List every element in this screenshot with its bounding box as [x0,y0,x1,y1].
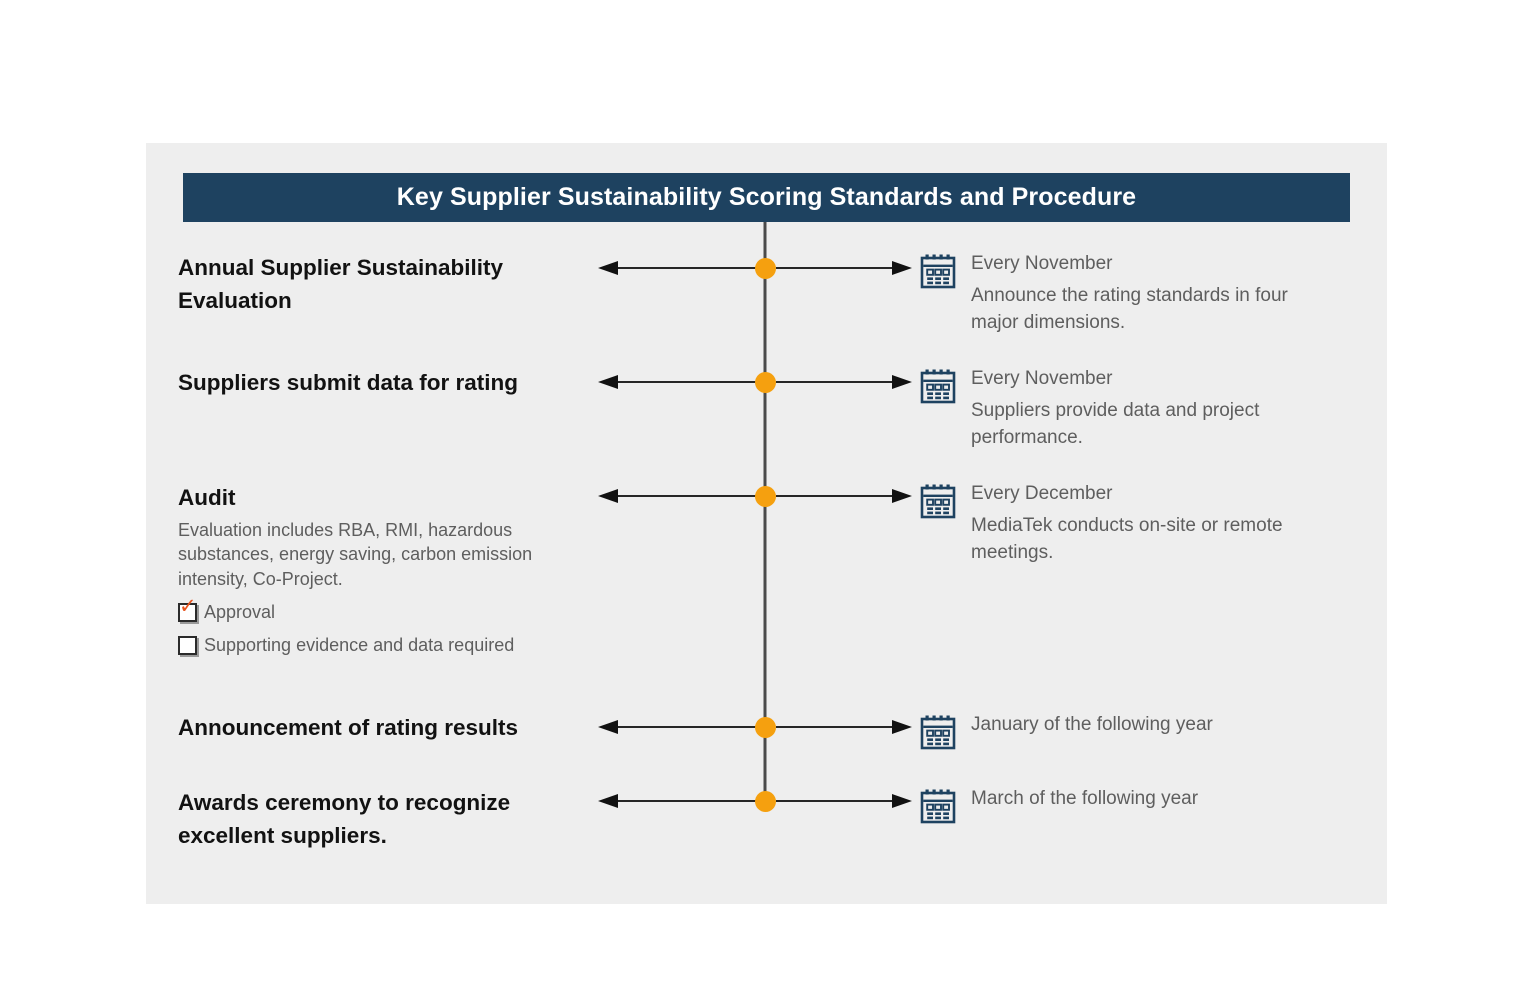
timeline-right-audit: Every DecemberMediaTek conducts on-site … [920,481,1283,567]
calendar-icon [920,483,956,519]
calendar-icon-wrapper [920,714,956,755]
date-label: Every November [971,366,1259,391]
checkbox-label: Approval [204,599,275,626]
calendar-icon-wrapper [920,483,956,524]
arrow-right-icon [776,487,912,505]
arrow-right-icon [776,259,912,277]
calendar-icon [920,253,956,289]
row-subtitle: Evaluation includes RBA, RMI, hazardous … [178,518,598,590]
timeline-right-text: Every NovemberAnnounce the rating standa… [971,251,1288,337]
date-label: January of the following year [971,712,1213,737]
connector-arrow-right [776,259,912,277]
timeline-right-text: Every NovemberSuppliers provide data and… [971,366,1259,452]
calendar-icon-wrapper [920,368,956,409]
connector-arrow-right [776,373,912,391]
timeline-node-annual-evaluation[interactable] [755,258,776,279]
connector-arrow-left [598,487,756,505]
arrow-left-icon [598,259,756,277]
check-mark-icon: ✓ [179,596,197,617]
timeline-right-text: Every DecemberMediaTek conducts on-site … [971,481,1283,567]
checkbox-item[interactable]: ✓Approval [178,599,598,626]
checkbox-unchecked-icon[interactable] [178,636,197,655]
timeline-left-audit: AuditEvaluation includes RBA, RMI, hazar… [178,481,598,665]
calendar-icon [920,714,956,750]
row-title: Suppliers submit data for rating [178,366,598,399]
arrow-right-icon [776,373,912,391]
connector-arrow-left [598,373,756,391]
timeline-node-suppliers-submit-data[interactable] [755,372,776,393]
checkbox-label: Supporting evidence and data required [204,632,514,659]
timeline-left-announcement-of-results: Announcement of rating results [178,711,598,744]
connector-arrow-right [776,718,912,736]
timeline-left-suppliers-submit-data: Suppliers submit data for rating [178,366,598,399]
row-title: Audit [178,481,598,514]
calendar-icon-wrapper [920,253,956,294]
row-title: Announcement of rating results [178,711,598,744]
timeline-right-announcement-of-results: January of the following year [920,712,1213,755]
arrow-left-icon [598,792,756,810]
date-label: Every December [971,481,1283,506]
checkbox-checked-icon[interactable]: ✓ [178,603,197,622]
connector-arrow-left [598,259,756,277]
diagram-header-bar: Key Supplier Sustainability Scoring Stan… [183,173,1350,222]
checkbox-item[interactable]: Supporting evidence and data required [178,632,598,659]
timeline-right-awards-ceremony: March of the following year [920,786,1198,829]
arrow-right-icon [776,792,912,810]
timeline-node-audit[interactable] [755,486,776,507]
timeline-node-awards-ceremony[interactable] [755,791,776,812]
timeline-left-awards-ceremony: Awards ceremony to recognize excellent s… [178,786,598,853]
timeline-right-text: March of the following year [971,786,1198,811]
connector-arrow-left [598,792,756,810]
connector-arrow-right [776,792,912,810]
calendar-icon [920,788,956,824]
note-text: Suppliers provide data and project perfo… [971,398,1259,452]
timeline-right-annual-evaluation: Every NovemberAnnounce the rating standa… [920,251,1288,337]
calendar-icon [920,368,956,404]
calendar-icon-wrapper [920,788,956,829]
timeline-right-suppliers-submit-data: Every NovemberSuppliers provide data and… [920,366,1259,452]
timeline-node-announcement-of-results[interactable] [755,717,776,738]
audit-checkbox-list: ✓ApprovalSupporting evidence and data re… [178,599,598,659]
note-text: Announce the rating standards in four ma… [971,283,1288,337]
arrow-left-icon [598,487,756,505]
page-title: Key Supplier Sustainability Scoring Stan… [397,183,1136,212]
timeline-left-annual-evaluation: Annual Supplier Sustainability Evaluatio… [178,251,598,318]
timeline-right-text: January of the following year [971,712,1213,737]
row-title: Awards ceremony to recognize excellent s… [178,786,598,853]
arrow-right-icon [776,718,912,736]
arrow-left-icon [598,718,756,736]
date-label: Every November [971,251,1288,276]
connector-arrow-right [776,487,912,505]
date-label: March of the following year [971,786,1198,811]
connector-arrow-left [598,718,756,736]
arrow-left-icon [598,373,756,391]
row-title: Annual Supplier Sustainability Evaluatio… [178,251,598,318]
note-text: MediaTek conducts on-site or remote meet… [971,513,1283,567]
